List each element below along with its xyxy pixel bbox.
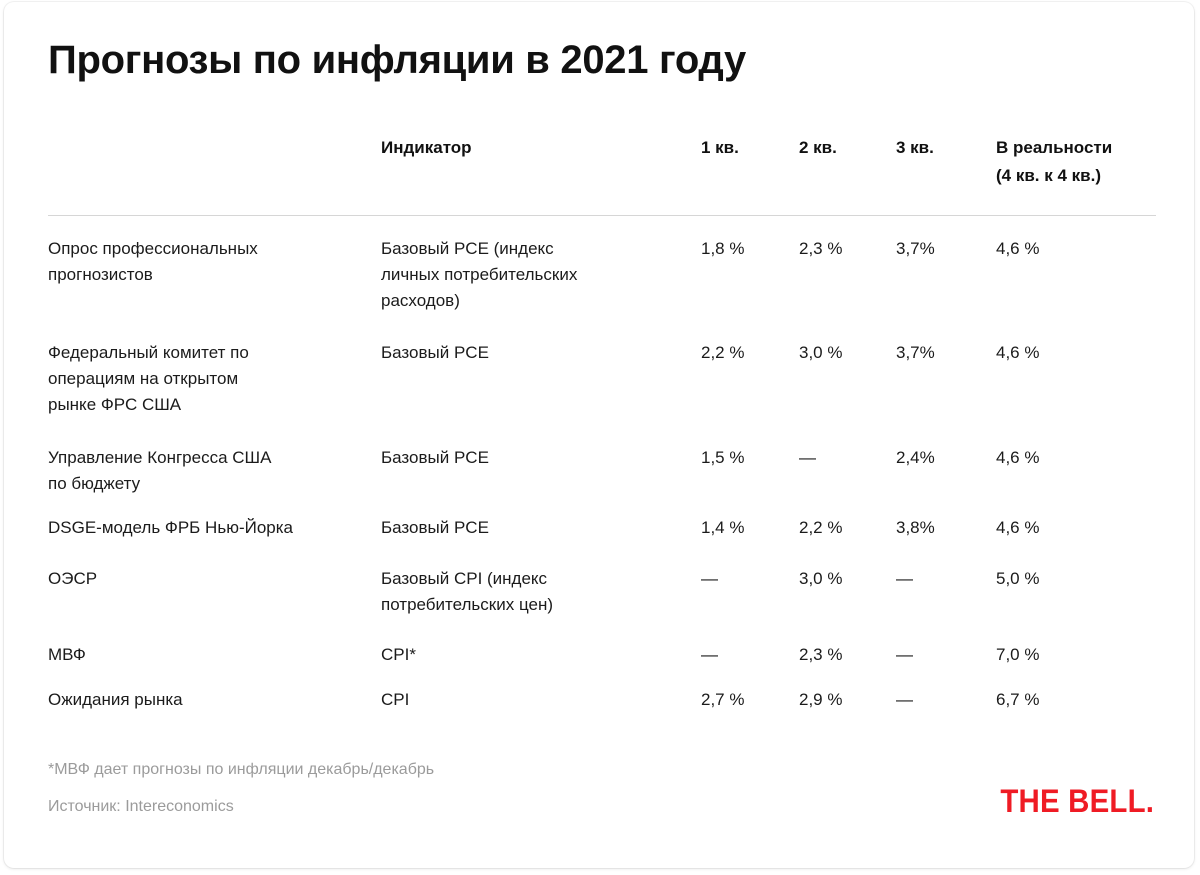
row-source-line: Управление Конгресса США [48, 445, 381, 471]
table-row: МВФ CPI* — 2,3 % — 7,0 % [48, 642, 1158, 687]
row-value-actual: 4,6 % [996, 236, 1166, 262]
row-value-q3: — [896, 566, 996, 592]
row-source: DSGE-модель ФРБ Нью-Йорка [48, 515, 381, 541]
row-source-line: операциям на открытом [48, 366, 381, 392]
row-source: Опрос профессиональных прогнозистов [48, 236, 381, 288]
table-row: Ожидания рынка CPI 2,7 % 2,9 % — 6,7 % [48, 687, 1158, 727]
row-indicator-line: личных потребительских [381, 262, 701, 288]
row-indicator: Базовый PCE (индекс личных потребительск… [381, 236, 701, 313]
header-indicator: Индикатор [381, 134, 701, 162]
the-bell-logo: THE BELL. [1000, 783, 1154, 820]
table-row: Опрос профессиональных прогнозистов Базо… [48, 236, 1158, 340]
row-value-actual: 4,6 % [996, 445, 1166, 471]
row-value-actual: 4,6 % [996, 515, 1166, 541]
row-indicator-line: Базовый PCE [381, 340, 701, 366]
row-indicator-line: CPI [381, 687, 701, 713]
row-value-actual: 6,7 % [996, 687, 1166, 713]
row-value-q3: — [896, 687, 996, 713]
table-row: Управление Конгресса США по бюджету Базо… [48, 445, 1158, 515]
row-indicator-line: Базовый CPI (индекс [381, 566, 701, 592]
row-source-line: по бюджету [48, 471, 381, 497]
row-source: МВФ [48, 642, 381, 668]
row-indicator-line: потребительских цен) [381, 592, 701, 618]
row-value-q3: 3,7% [896, 340, 996, 366]
row-source-line: Федеральный комитет по [48, 340, 381, 366]
row-value-q2: 2,2 % [799, 515, 896, 541]
row-value-q3: — [896, 642, 996, 668]
row-indicator-line: Базовый PCE [381, 445, 701, 471]
row-value-q1: — [701, 566, 799, 592]
row-source: Федеральный комитет по операциям на откр… [48, 340, 381, 417]
row-value-q3: 3,8% [896, 515, 996, 541]
row-value-q1: 1,8 % [701, 236, 799, 262]
row-value-actual: 4,6 % [996, 340, 1166, 366]
row-value-q2: 2,3 % [799, 642, 896, 668]
row-indicator: Базовый PCE [381, 340, 701, 366]
row-value-q1: 1,4 % [701, 515, 799, 541]
header-q1: 1 кв. [701, 134, 799, 162]
footnote-note: *МВФ дает прогнозы по инфляции декабрь/д… [48, 762, 434, 778]
header-q3: 3 кв. [896, 134, 996, 162]
row-value-q1: 2,7 % [701, 687, 799, 713]
infographic-card: Прогнозы по инфляции в 2021 году Индикат… [4, 2, 1194, 868]
row-source-line: Ожидания рынка [48, 687, 381, 713]
row-source-line: DSGE-модель ФРБ Нью-Йорка [48, 515, 381, 541]
row-indicator: CPI* [381, 642, 701, 668]
row-source-line: ОЭСР [48, 566, 381, 592]
row-indicator-line: CPI* [381, 642, 701, 668]
row-source: Ожидания рынка [48, 687, 381, 713]
table-row: DSGE-модель ФРБ Нью-Йорка Базовый PCE 1,… [48, 515, 1158, 566]
row-indicator-line: Базовый PCE (индекс [381, 236, 701, 262]
row-indicator: Базовый CPI (индекс потребительских цен) [381, 566, 701, 618]
header-q2: 2 кв. [799, 134, 896, 162]
row-value-q1: 1,5 % [701, 445, 799, 471]
row-source: ОЭСР [48, 566, 381, 592]
table-row: Федеральный комитет по операциям на откр… [48, 340, 1158, 445]
row-value-actual: 5,0 % [996, 566, 1166, 592]
row-value-q2: — [799, 445, 896, 471]
row-value-q1: 2,2 % [701, 340, 799, 366]
table-body: Опрос профессиональных прогнозистов Базо… [48, 236, 1158, 727]
row-value-q1: — [701, 642, 799, 668]
row-source: Управление Конгресса США по бюджету [48, 445, 381, 497]
header-actual-line1: В реальности [996, 134, 1166, 162]
footnotes: *МВФ дает прогнозы по инфляции декабрь/д… [48, 762, 434, 836]
table-row: ОЭСР Базовый CPI (индекс потребительских… [48, 566, 1158, 642]
header-row: Индикатор 1 кв. 2 кв. 3 кв. В реальности… [48, 134, 1158, 203]
footnote-source: Источник: Intereconomics [48, 799, 434, 815]
row-source-line: прогнозистов [48, 262, 381, 288]
row-value-q2: 3,0 % [799, 566, 896, 592]
header-actual-line2: (4 кв. к 4 кв.) [996, 162, 1166, 190]
row-indicator: CPI [381, 687, 701, 713]
header-actual: В реальности (4 кв. к 4 кв.) [996, 134, 1166, 189]
row-source-line: МВФ [48, 642, 381, 668]
header-divider [48, 215, 1156, 216]
row-source-line: Опрос профессиональных [48, 236, 381, 262]
page-title: Прогнозы по инфляции в 2021 году [48, 38, 746, 83]
row-indicator: Базовый PCE [381, 445, 701, 471]
row-value-q2: 2,9 % [799, 687, 896, 713]
table-header: Индикатор 1 кв. 2 кв. 3 кв. В реальности… [48, 134, 1158, 203]
row-value-q3: 2,4% [896, 445, 996, 471]
row-value-q2: 3,0 % [799, 340, 896, 366]
row-value-q2: 2,3 % [799, 236, 896, 262]
row-source-line: рынке ФРС США [48, 392, 381, 418]
row-value-actual: 7,0 % [996, 642, 1166, 668]
row-indicator-line: расходов) [381, 288, 701, 314]
row-indicator: Базовый PCE [381, 515, 701, 541]
row-indicator-line: Базовый PCE [381, 515, 701, 541]
row-value-q3: 3,7% [896, 236, 996, 262]
